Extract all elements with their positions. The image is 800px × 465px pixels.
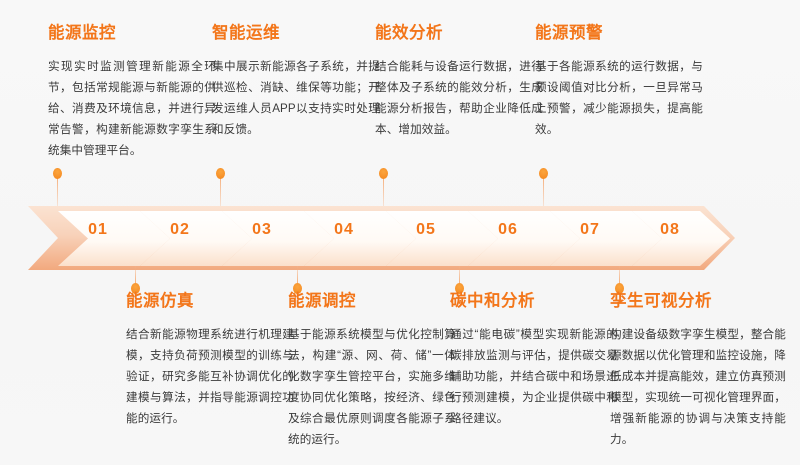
step-title-07: 能源预警 [535,24,703,44]
step-title-06: 碳中和分析 [450,292,618,312]
step-title-03: 智能运维 [212,24,380,44]
step-body-05: 结合能耗与设备运行数据，进行整体及子系统的能效分析，生成能源分析报告，帮助企业降… [375,56,543,140]
connector-dot-07 [539,168,548,179]
connector-06 [455,266,464,294]
connector-08 [615,266,624,294]
connector-dot-03 [216,168,225,179]
chevron-number-06: 06 [478,221,538,239]
step-title-04: 能源调控 [288,292,456,312]
step-body-01: 实现实时监测管理新能源全环节，包括常规能源与新能源的供给、消费及环境信息，并进行… [48,56,216,161]
chevron-number-05: 05 [396,221,456,239]
step-body-07: 基于各能源系统的运行数据，与预设阈值对比分析，一旦异常马上预警，减少能源损失，提… [535,56,703,140]
connector-04 [293,266,302,294]
chevron-number-03: 03 [232,221,292,239]
step-title-01: 能源监控 [48,24,216,44]
process-chevron-band: 01 02 03 04 05 06 07 08 [0,200,800,272]
connector-02 [131,266,140,294]
step-title-08: 孪生可视分析 [610,292,786,312]
chevron-number-01: 01 [68,221,128,239]
chevron-number-04: 04 [314,221,374,239]
step-card-04: 能源调控 基于能源系统模型与优化控制算法，构建“源、网、荷、储”一体化数字孪生管… [288,292,456,450]
step-title-05: 能效分析 [375,24,543,44]
chevron-number-07: 07 [560,221,620,239]
step-body-08: 构建设备级数字孪生模型，整合能源数据以优化管理和监控设施，降低成本并提高能效，建… [610,324,786,451]
step-card-06: 碳中和分析 通过“能电碳”模型实现新能源的碳排放监测与评估，提供碳交易辅助功能，… [450,292,618,429]
connector-dot-05 [379,168,388,179]
step-card-03: 智能运维 集中展示新能源各子系统，并提供巡检、消缺、维保等功能；开发运维人员AP… [212,24,380,140]
step-body-02: 结合新能源物理系统进行机理建模，支持负荷预测模型的训练与验证，研究多能互补协调优… [126,324,294,429]
infographic-canvas: 能源监控 实现实时监测管理新能源全环节，包括常规能源与新能源的供给、消费及环境信… [0,0,800,465]
step-card-05: 能效分析 结合能耗与设备运行数据，进行整体及子系统的能效分析，生成能源分析报告，… [375,24,543,140]
step-card-07: 能源预警 基于各能源系统的运行数据，与预设阈值对比分析，一旦异常马上预警，减少能… [535,24,703,140]
step-title-02: 能源仿真 [126,292,294,312]
chevron-number-02: 02 [150,221,210,239]
step-card-01: 能源监控 实现实时监测管理新能源全环节，包括常规能源与新能源的供给、消费及环境信… [48,24,216,161]
step-card-02: 能源仿真 结合新能源物理系统进行机理建模，支持负荷预测模型的训练与验证，研究多能… [126,292,294,429]
step-body-06: 通过“能电碳”模型实现新能源的碳排放监测与评估，提供碳交易辅助功能，并结合碳中和… [450,324,618,429]
connector-dot-01 [53,168,62,179]
step-card-08: 孪生可视分析 构建设备级数字孪生模型，整合能源数据以优化管理和监控设施，降低成本… [610,292,786,450]
chevron-number-08: 08 [640,221,700,239]
step-body-03: 集中展示新能源各子系统，并提供巡检、消缺、维保等功能；开发运维人员APP以支持实… [212,56,380,140]
step-body-04: 基于能源系统模型与优化控制算法，构建“源、网、荷、储”一体化数字孪生管控平台，实… [288,324,456,451]
